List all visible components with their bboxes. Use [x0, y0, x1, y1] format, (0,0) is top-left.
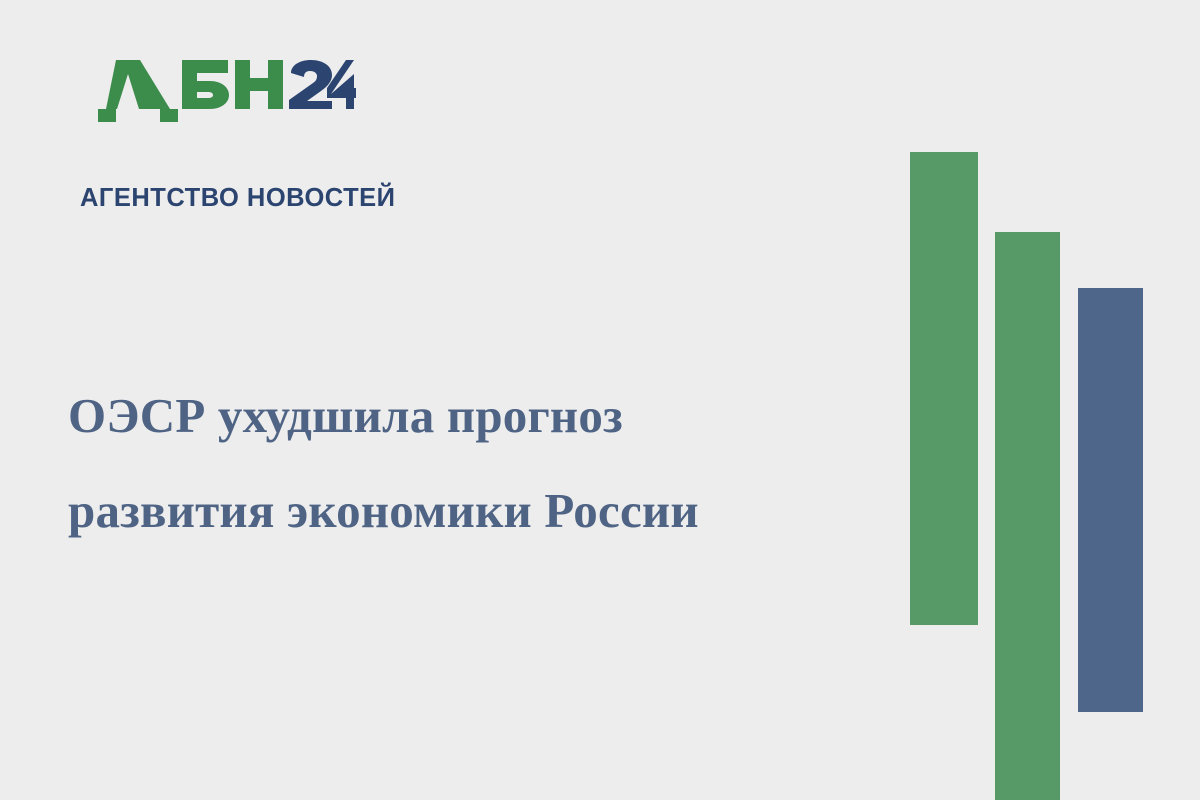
headline-line-1: ОЭСР ухудшила прогноз	[68, 368, 868, 463]
chart-bar-2	[995, 232, 1060, 800]
chart-bar-3	[1078, 288, 1143, 712]
abn24-logo-tagline: АГЕНТСТВО НОВОСТЕЙ	[80, 186, 366, 212]
news-card: АГЕНТСТВО НОВОСТЕЙ ОЭСР ухудшила прогноз…	[0, 0, 1200, 800]
headline-line-2: развития экономики России	[68, 463, 868, 558]
chart-bar-1	[910, 152, 978, 625]
abn24-wordmark-icon	[78, 60, 356, 122]
abn24-logo[interactable]: АГЕНТСТВО НОВОСТЕЙ	[78, 60, 368, 160]
headline: ОЭСР ухудшила прогноз развития экономики…	[68, 368, 868, 558]
